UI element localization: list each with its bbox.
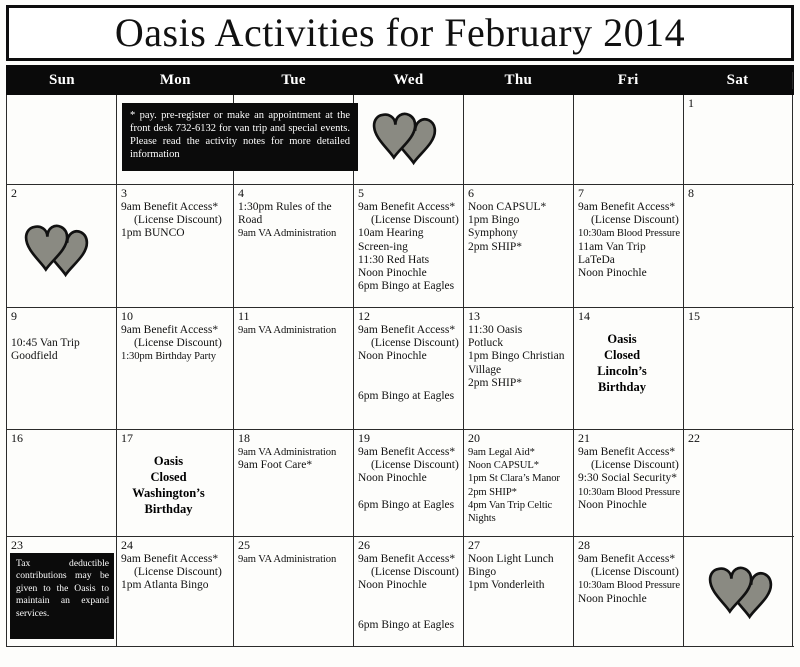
day-event-list: 9am VA Administration9am Foot Care* — [238, 446, 350, 472]
calendar-week-row: * pay. pre-register or make an appointme… — [7, 95, 794, 185]
day-number: 7 — [578, 186, 680, 200]
calendar-day-cell-6[interactable]: 6Noon CAPSUL*1pm BingoSymphony2pm SHIP* — [464, 185, 574, 307]
day-number — [468, 96, 570, 97]
day-event-item[interactable]: 11am Van Trip — [578, 241, 680, 254]
day-number: 23 — [11, 538, 113, 552]
page-title: Oasis Activities for February 2014 — [115, 11, 685, 55]
calendar-day-cell-13[interactable]: 1311:30 OasisPotluck1pm Bingo ChristianV… — [464, 308, 574, 429]
day-event-item[interactable]: Noon CAPSUL* — [468, 459, 570, 472]
closed-notice: OasisClosedWashington’sBirthday — [121, 453, 230, 517]
calendar-day-cell-28[interactable]: 289am Benefit Access*(License Discount)1… — [574, 537, 684, 646]
day-event-item[interactable]: 4pm Van Trip Celtic — [468, 499, 570, 512]
calendar-page: Oasis Activities for February 2014 SunMo… — [0, 0, 800, 667]
day-event-item[interactable]: (License Discount) — [578, 566, 680, 579]
event-spacer — [358, 606, 460, 619]
day-number: 12 — [358, 309, 460, 323]
asterisk-legend-note: * pay. pre-register or make an appointme… — [122, 103, 358, 171]
weekday-header-tue: Tue — [234, 72, 354, 89]
weekday-header-thu: Thu — [463, 72, 573, 89]
day-event-item[interactable]: 1pm Bingo — [468, 214, 570, 227]
weekday-header-sun: Sun — [7, 72, 117, 89]
event-spacer — [358, 364, 460, 377]
closed-notice-line: Closed — [578, 347, 666, 363]
calendar-day-cell-25[interactable]: 259am VA Administration — [234, 537, 354, 646]
day-number — [358, 96, 460, 97]
weekday-header-wed: Wed — [354, 72, 464, 89]
day-number: 22 — [688, 431, 789, 445]
calendar-day-cell-21[interactable]: 219am Benefit Access*(License Discount)9… — [574, 430, 684, 536]
day-event-item[interactable]: (License Discount) — [121, 337, 230, 350]
day-event-item[interactable]: 6pm Bingo at Eagles — [358, 619, 460, 632]
day-event-item[interactable]: (License Discount) — [121, 214, 230, 227]
day-event-item[interactable]: Noon Pinochle — [578, 267, 680, 280]
day-event-item[interactable]: 2pm SHIP* — [468, 377, 570, 390]
day-event-item[interactable]: (License Discount) — [121, 566, 230, 579]
closed-notice-line: Lincoln’s — [578, 363, 666, 379]
day-event-item[interactable]: 9am Benefit Access* — [358, 324, 460, 337]
calendar-week-row: 23Tax deductible contributions may be gi… — [7, 537, 794, 647]
day-number — [238, 96, 350, 97]
day-event-item[interactable]: 2pm SHIP* — [468, 241, 570, 254]
day-number: 15 — [688, 309, 789, 323]
day-event-item[interactable]: 9am Benefit Access* — [121, 553, 230, 566]
day-event-list: 9am Benefit Access*(License Discount)9:3… — [578, 446, 680, 512]
day-event-item[interactable]: Bingo — [468, 566, 570, 579]
day-event-list: 9am Benefit Access*(License Discount)1pm… — [121, 553, 230, 593]
day-event-item[interactable]: 9am Benefit Access* — [578, 553, 680, 566]
day-number: 21 — [578, 431, 680, 445]
calendar-day-cell-15[interactable]: 15 — [684, 308, 793, 429]
closed-notice-line: Birthday — [121, 501, 216, 517]
calendar-day-cell-22[interactable]: 22 — [684, 430, 793, 536]
day-event-item[interactable]: 1:30pm Rules of the Road — [238, 201, 350, 227]
calendar-day-cell-empty[interactable] — [354, 95, 464, 184]
day-event-item[interactable]: Noon Pinochle — [358, 350, 460, 363]
calendar-day-cell-empty[interactable] — [684, 537, 793, 646]
calendar-day-cell-2[interactable]: 2 — [7, 185, 117, 307]
calendar-day-cell-7[interactable]: 79am Benefit Access*(License Discount)10… — [574, 185, 684, 307]
closed-notice-line: Closed — [121, 469, 216, 485]
day-number: 1 — [688, 96, 789, 110]
day-event-item[interactable]: 9am Benefit Access* — [358, 201, 460, 214]
day-event-item[interactable]: Noon Light Lunch — [468, 553, 570, 566]
day-event-item[interactable]: 9am Benefit Access* — [358, 553, 460, 566]
day-event-item[interactable]: 9am Benefit Access* — [358, 446, 460, 459]
day-event-item[interactable]: 9:30 Social Security* — [578, 472, 680, 485]
calendar-week-row: 1617OasisClosedWashington’sBirthday189am… — [7, 430, 794, 537]
day-event-item[interactable]: 9am Benefit Access* — [121, 324, 230, 337]
calendar-day-cell-1[interactable]: 1 — [684, 95, 793, 184]
day-event-item[interactable]: Nights — [468, 512, 570, 525]
day-event-item[interactable]: LaTeDa — [578, 254, 680, 267]
day-number: 25 — [238, 538, 350, 552]
day-number: 8 — [688, 186, 789, 200]
day-event-item[interactable]: 9am Foot Care* — [238, 459, 350, 472]
day-number: 13 — [468, 309, 570, 323]
calendar-day-cell-18[interactable]: 189am VA Administration9am Foot Care* — [234, 430, 354, 536]
event-spacer — [358, 486, 460, 499]
day-number: 20 — [468, 431, 570, 445]
day-event-item[interactable]: 1pm Atlanta Bingo — [121, 579, 230, 592]
day-event-item[interactable]: 6pm Bingo at Eagles — [358, 280, 460, 293]
calendar-day-cell-3[interactable]: 39am Benefit Access*(License Discount)1p… — [117, 185, 234, 307]
calendar-day-cell-empty[interactable] — [464, 95, 574, 184]
calendar-day-cell-19[interactable]: 199am Benefit Access*(License Discount)N… — [354, 430, 464, 536]
day-number: 2 — [11, 186, 113, 200]
calendar-day-cell-17[interactable]: 17OasisClosedWashington’sBirthday — [117, 430, 234, 536]
day-number: 10 — [121, 309, 230, 323]
day-number: 11 — [238, 309, 350, 323]
day-event-list: Noon Light LunchBingo1pm Vonderleith — [468, 553, 570, 593]
day-event-list: 11:30 OasisPotluck1pm Bingo ChristianVil… — [468, 324, 570, 390]
day-number: 5 — [358, 186, 460, 200]
calendar-week-row: 239am Benefit Access*(License Discount)1… — [7, 185, 794, 308]
day-event-list: 9am Benefit Access*(License Discount)1:3… — [121, 324, 230, 364]
day-event-item[interactable]: 1pm BUNCO — [121, 227, 230, 240]
day-event-list: 9am Legal Aid*Noon CAPSUL*1pm St Clara’s… — [468, 446, 570, 525]
day-event-item[interactable]: Noon Pinochle — [358, 472, 460, 485]
calendar-day-cell-16[interactable]: 16 — [7, 430, 117, 536]
calendar-day-cell-8[interactable]: 8 — [684, 185, 793, 307]
day-event-list: 9am Benefit Access*(License Discount)Noo… — [358, 553, 460, 632]
day-event-item[interactable]: Noon Pinochle — [578, 593, 680, 606]
day-event-list: 9am Benefit Access*(License Discount)Noo… — [358, 446, 460, 512]
day-event-list: 9am Benefit Access*(License Discount)10:… — [578, 553, 680, 606]
calendar-day-cell-9[interactable]: 910:45 Van TripGoodfield — [7, 308, 117, 429]
day-event-item[interactable]: Symphony — [468, 227, 570, 240]
day-number: 18 — [238, 431, 350, 445]
day-event-list: 9am Benefit Access*(License Discount)10:… — [578, 201, 680, 280]
day-event-item[interactable]: (License Discount) — [358, 337, 460, 350]
calendar-title-banner: Oasis Activities for February 2014 — [6, 5, 794, 61]
day-event-item[interactable]: 9am Benefit Access* — [121, 201, 230, 214]
weekday-header-sat: Sat — [683, 72, 793, 89]
day-number — [11, 96, 113, 97]
calendar-day-cell-24[interactable]: 249am Benefit Access*(License Discount)1… — [117, 537, 234, 646]
double-hearts-icon — [20, 223, 96, 281]
day-event-item[interactable]: Noon Pinochle — [578, 499, 680, 512]
day-event-item[interactable]: 1pm Vonderleith — [468, 579, 570, 592]
calendar-grid: * pay. pre-register or make an appointme… — [6, 95, 794, 647]
tax-deductible-note: Tax deductible contributions may be give… — [10, 553, 114, 639]
day-event-item[interactable]: 9am VA Administration — [238, 227, 350, 240]
closed-notice-line: Oasis — [121, 453, 216, 469]
day-event-item[interactable]: 10:30am Blood Pressure — [578, 486, 680, 499]
closed-notice-line: Oasis — [578, 331, 666, 347]
day-event-list: 9am Benefit Access*(License Discount)Noo… — [358, 324, 460, 403]
day-event-item[interactable]: 6pm Bingo at Eagles — [358, 499, 460, 512]
calendar-day-cell-5[interactable]: 59am Benefit Access*(License Discount)10… — [354, 185, 464, 307]
day-event-item[interactable]: (License Discount) — [578, 214, 680, 227]
day-number: 3 — [121, 186, 230, 200]
day-event-item[interactable]: 9am Benefit Access* — [578, 446, 680, 459]
day-number: 16 — [11, 431, 113, 445]
day-event-list: 9am Benefit Access*(License Discount)10a… — [358, 201, 460, 293]
day-event-item[interactable]: 2pm SHIP* — [468, 486, 570, 499]
day-event-item[interactable]: 10:45 Van Trip — [11, 337, 113, 350]
weekday-header-fri: Fri — [573, 72, 683, 89]
day-number — [578, 96, 680, 97]
event-spacer — [11, 324, 113, 337]
day-event-item[interactable]: 1:30pm Birthday Party — [121, 350, 230, 363]
day-event-item[interactable]: 10:30am Blood Pressure — [578, 579, 680, 592]
day-event-item[interactable]: (License Discount) — [358, 566, 460, 579]
double-hearts-icon — [368, 111, 444, 169]
day-event-item[interactable]: (License Discount) — [578, 459, 680, 472]
day-event-item[interactable]: 9am VA Administration — [238, 324, 350, 337]
day-event-item[interactable]: 11:30 Oasis — [468, 324, 570, 337]
day-event-item[interactable]: 9am VA Administration — [238, 446, 350, 459]
day-event-item[interactable]: 11:30 Red Hats — [358, 254, 460, 267]
closed-notice-line: Washington’s — [121, 485, 216, 501]
day-number: 28 — [578, 538, 680, 552]
day-event-item[interactable]: Village — [468, 364, 570, 377]
day-event-list: 9am VA Administration — [238, 553, 350, 566]
day-event-list: 9am VA Administration — [238, 324, 350, 337]
day-event-item[interactable]: 10:30am Blood Pressure — [578, 227, 680, 240]
closed-notice: OasisClosedLincoln’sBirthday — [578, 331, 680, 395]
day-number: 14 — [578, 309, 680, 323]
event-spacer — [358, 377, 460, 390]
calendar-day-cell-20[interactable]: 209am Legal Aid*Noon CAPSUL*1pm St Clara… — [464, 430, 574, 536]
double-hearts-icon — [704, 565, 780, 623]
day-event-item[interactable]: Goodfield — [11, 350, 113, 363]
day-number: 27 — [468, 538, 570, 552]
day-event-item[interactable]: 10am Hearing Screen-ing — [358, 227, 460, 253]
day-event-item[interactable]: Potluck — [468, 337, 570, 350]
weekday-header-row: SunMonTueWedThuFriSat — [6, 65, 794, 95]
day-event-item[interactable]: Noon Pinochle — [358, 267, 460, 280]
day-event-list: 1:30pm Rules of the Road9am VA Administr… — [238, 201, 350, 241]
calendar-day-cell-empty[interactable] — [574, 95, 684, 184]
day-number: 26 — [358, 538, 460, 552]
day-event-list: Noon CAPSUL*1pm BingoSymphony2pm SHIP* — [468, 201, 570, 254]
calendar-day-cell-12[interactable]: 129am Benefit Access*(License Discount)N… — [354, 308, 464, 429]
day-number — [121, 96, 230, 97]
calendar-week-row: 910:45 Van TripGoodfield109am Benefit Ac… — [7, 308, 794, 430]
calendar-day-cell-4[interactable]: 41:30pm Rules of the Road9am VA Administ… — [234, 185, 354, 307]
weekday-header-mon: Mon — [117, 72, 234, 89]
calendar-day-cell-11[interactable]: 119am VA Administration — [234, 308, 354, 429]
day-event-item[interactable]: 9am Benefit Access* — [578, 201, 680, 214]
day-number: 19 — [358, 431, 460, 445]
day-event-item[interactable]: Noon CAPSUL* — [468, 201, 570, 214]
calendar-day-cell-26[interactable]: 269am Benefit Access*(License Discount)N… — [354, 537, 464, 646]
closed-notice-line: Birthday — [578, 379, 666, 395]
day-event-item[interactable]: (License Discount) — [358, 459, 460, 472]
day-event-item[interactable]: 6pm Bingo at Eagles — [358, 390, 460, 403]
calendar-day-cell-14[interactable]: 14OasisClosedLincoln’sBirthday — [574, 308, 684, 429]
day-event-list: 10:45 Van TripGoodfield — [11, 324, 113, 363]
day-number: 24 — [121, 538, 230, 552]
day-event-item[interactable]: 9am VA Administration — [238, 553, 350, 566]
day-event-item[interactable]: 1pm St Clara’s Manor — [468, 472, 570, 485]
day-event-list: 9am Benefit Access*(License Discount)1pm… — [121, 201, 230, 241]
day-event-item[interactable]: 1pm Bingo Christian — [468, 350, 570, 363]
calendar-day-cell-empty[interactable]: * pay. pre-register or make an appointme… — [117, 95, 234, 184]
day-number: 4 — [238, 186, 350, 200]
day-event-item[interactable]: 9am Legal Aid* — [468, 446, 570, 459]
event-spacer — [358, 593, 460, 606]
calendar-day-cell-27[interactable]: 27Noon Light LunchBingo1pm Vonderleith — [464, 537, 574, 646]
day-number: 6 — [468, 186, 570, 200]
day-number: 17 — [121, 431, 230, 445]
day-event-item[interactable]: Noon Pinochle — [358, 579, 460, 592]
day-number: 9 — [11, 309, 113, 323]
calendar-day-cell-23[interactable]: 23Tax deductible contributions may be gi… — [7, 537, 117, 646]
day-number — [688, 538, 789, 539]
calendar-day-cell-10[interactable]: 109am Benefit Access*(License Discount)1… — [117, 308, 234, 429]
day-event-item[interactable]: (License Discount) — [358, 214, 460, 227]
calendar-day-cell-empty[interactable] — [7, 95, 117, 184]
